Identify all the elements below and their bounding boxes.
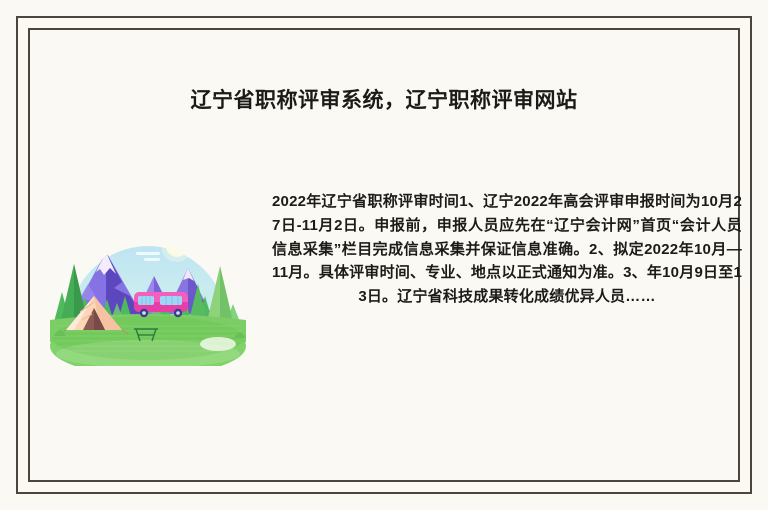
page-root: 辽宁省职称评审系统，辽宁职称评审网站	[0, 0, 768, 510]
cloud-icon	[88, 214, 216, 261]
article-body: 2022年辽宁省职称评审时间1、辽宁2022年高会评审申报时间为10月27日-1…	[272, 190, 742, 309]
page-title: 辽宁省职称评审系统，辽宁职称评审网站	[28, 86, 740, 115]
camping-scene-illustration	[48, 196, 248, 366]
content-row: 2022年辽宁省职称评审时间1、辽宁2022年高会评审申报时间为10月27日-1…	[28, 190, 740, 366]
